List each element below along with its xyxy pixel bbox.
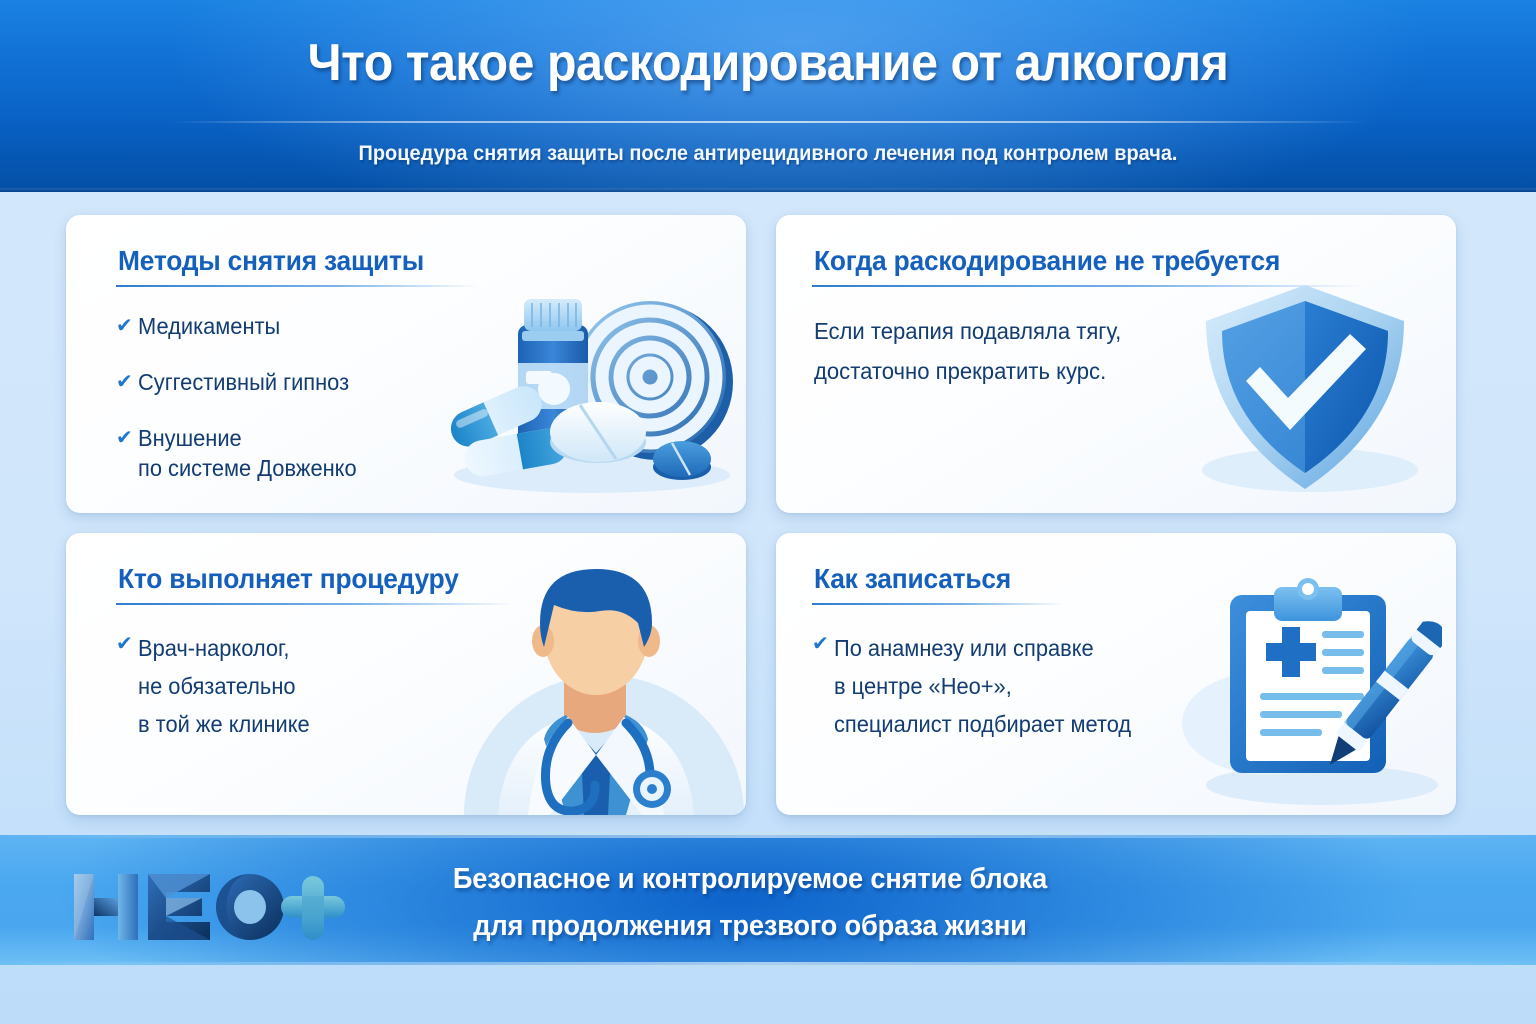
page-title: Что такое раскодирование от алкоголя xyxy=(54,33,1482,93)
card-grid: Методы снятия защиты ✔ Медикаменты ✔ Суг… xyxy=(66,215,1470,815)
card-methods-heading: Методы снятия защиты xyxy=(118,245,424,277)
card-how-to-book-heading: Как записаться xyxy=(814,563,1011,595)
doctor-illustration xyxy=(446,553,746,815)
header-banner: Что такое раскодирование от алкоголя Про… xyxy=(0,0,1536,192)
header-divider xyxy=(168,121,1368,123)
card-who-performs-heading: Кто выполняет процедуру xyxy=(118,563,459,595)
card-when-not-needed: Когда раскодирование не требуется Если т… xyxy=(776,215,1456,513)
tablet-icon xyxy=(653,441,711,480)
card-methods: Методы снятия защиты ✔ Медикаменты ✔ Суг… xyxy=(66,215,746,513)
page-subtitle: Процедура снятия защиты после антирециди… xyxy=(38,142,1497,166)
logo-letter-e xyxy=(148,874,210,940)
list-item-label: Внушение по системе Довженко xyxy=(138,423,357,483)
list-item-label: По анамнезу или справке в центре «Нео+»,… xyxy=(834,629,1131,743)
check-icon: ✔ xyxy=(116,311,138,341)
infographic-poster: Что такое раскодирование от алкоголя Про… xyxy=(0,0,1536,1024)
logo-letter-n xyxy=(74,874,138,940)
neo-plus-logo xyxy=(62,862,352,950)
pills-and-spiral-illustration xyxy=(442,277,738,497)
check-icon: ✔ xyxy=(812,629,834,659)
card-methods-heading-underline xyxy=(116,285,478,287)
card-when-not-needed-heading: Когда раскодирование не требуется xyxy=(814,245,1280,277)
shield-check-illustration xyxy=(1192,277,1422,502)
card-how-to-book: Как записаться ✔ По анамнезу или справке… xyxy=(776,533,1456,815)
logo-plus-icon xyxy=(281,876,345,940)
list-item: ✔ По анамнезу или справке в центре «Нео+… xyxy=(812,629,1212,743)
tablet-icon xyxy=(550,402,646,463)
list-item-label: Суггестивный гипноз xyxy=(138,367,349,397)
card-when-not-needed-text: Если терапия подавляла тягу, достаточно … xyxy=(814,311,1227,391)
clipboard-and-pen-illustration xyxy=(1182,573,1442,811)
card-how-to-book-bullet-list: ✔ По анамнезу или справке в центре «Нео+… xyxy=(812,629,1212,765)
list-item-label: Медикаменты xyxy=(138,311,280,341)
list-item-label: Врач-нарколог, не обязательно в той же к… xyxy=(138,629,310,743)
logo-letter-o xyxy=(216,874,284,940)
card-how-to-book-heading-underline xyxy=(812,603,1064,605)
check-icon: ✔ xyxy=(116,629,138,659)
check-icon: ✔ xyxy=(116,367,138,397)
card-who-performs: Кто выполняет процедуру ✔ Врач-нарколог,… xyxy=(66,533,746,815)
check-icon: ✔ xyxy=(116,423,138,453)
footer-tagline: Безопасное и контролируемое снятие блока… xyxy=(374,856,1126,950)
